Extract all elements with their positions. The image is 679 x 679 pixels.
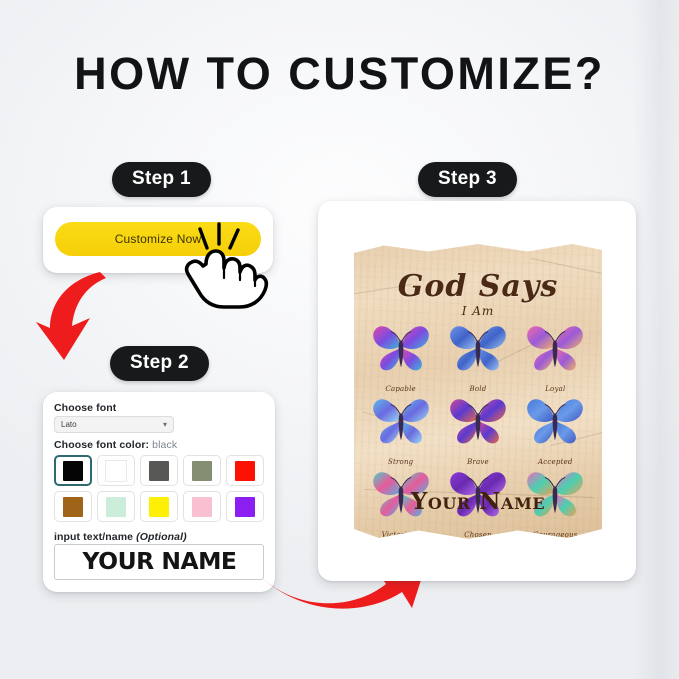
color-swatch-chip xyxy=(235,497,255,517)
blanket-name-placeholder: Your Name xyxy=(354,488,602,515)
butterfly-label: Courageous xyxy=(517,531,594,539)
name-text-input[interactable]: YOUR NAME xyxy=(54,544,264,580)
color-swatch-pink[interactable] xyxy=(183,491,221,522)
butterfly-cell: Bold xyxy=(439,321,516,394)
color-swatch-purple[interactable] xyxy=(226,491,264,522)
blanket-heading: God Says xyxy=(354,269,602,304)
color-swatch-dark-gray[interactable] xyxy=(140,455,178,486)
color-swatch-mint[interactable] xyxy=(97,491,135,522)
color-swatch-chip xyxy=(149,497,169,517)
color-swatch-chip xyxy=(149,461,169,481)
color-swatch-brown[interactable] xyxy=(54,491,92,522)
name-text-input-value: YOUR NAME xyxy=(82,549,236,575)
step-2-card: Choose font Lato ▾ Choose font color: bl… xyxy=(43,392,275,592)
butterfly-icon xyxy=(370,321,432,375)
butterfly-label: Bold xyxy=(439,385,516,393)
step-3-card: God Says I Am CapableBoldLoyalStrongBrav… xyxy=(318,201,636,581)
butterfly-icon xyxy=(370,394,432,448)
color-swatch-chip xyxy=(235,461,255,481)
butterfly-label: Chosen xyxy=(439,531,516,539)
color-swatch-chip xyxy=(63,461,83,481)
choose-font-label: Choose font xyxy=(54,402,116,414)
butterfly-icon xyxy=(447,321,509,375)
page-title: HOW TO CUSTOMIZE? xyxy=(0,48,679,100)
butterfly-cell: Strong xyxy=(362,394,439,467)
chevron-down-icon: ▾ xyxy=(163,421,167,429)
butterfly-cell: Capable xyxy=(362,321,439,394)
input-optional-text: (Optional) xyxy=(136,531,187,543)
color-swatch-yellow[interactable] xyxy=(140,491,178,522)
color-swatch-chip xyxy=(106,497,126,517)
color-swatch-white[interactable] xyxy=(97,455,135,486)
infographic-canvas: HOW TO CUSTOMIZE? Step 1 Customize Now xyxy=(0,0,679,679)
butterfly-cell: Loyal xyxy=(517,321,594,394)
choose-font-color-text: Choose font color: xyxy=(54,439,149,451)
butterfly-label: Victorious xyxy=(362,531,439,539)
color-swatch-grid xyxy=(54,455,264,522)
input-text-name-label: input text/name (Optional) xyxy=(54,531,187,543)
color-swatch-black[interactable] xyxy=(54,455,92,486)
butterfly-label: Loyal xyxy=(517,385,594,393)
color-swatch-chip xyxy=(105,460,127,482)
butterfly-label: Capable xyxy=(362,385,439,393)
choose-font-color-value: black xyxy=(152,439,177,451)
butterfly-cell: Brave xyxy=(439,394,516,467)
font-select-value: Lato xyxy=(61,420,163,429)
canvas-edge-shadow xyxy=(633,0,679,679)
butterfly-label: Brave xyxy=(439,458,516,466)
color-swatch-chip xyxy=(192,461,212,481)
font-select[interactable]: Lato ▾ xyxy=(54,416,174,433)
step-3-badge: Step 3 xyxy=(418,162,517,197)
step-1-badge: Step 1 xyxy=(112,162,211,197)
butterfly-icon xyxy=(524,321,586,375)
color-swatch-sage-green[interactable] xyxy=(183,455,221,486)
color-swatch-chip xyxy=(192,497,212,517)
step-2-badge: Step 2 xyxy=(110,346,209,381)
butterfly-label: Accepted xyxy=(517,458,594,466)
butterfly-label: Strong xyxy=(362,458,439,466)
pointing-hand-cursor-icon xyxy=(166,218,274,310)
butterfly-icon xyxy=(524,394,586,448)
color-swatch-red[interactable] xyxy=(226,455,264,486)
blanket-subheading: I Am xyxy=(354,304,602,318)
butterfly-cell: Accepted xyxy=(517,394,594,467)
input-text-name-text: input text/name xyxy=(54,531,133,543)
arrow-step1-to-step2 xyxy=(28,266,120,364)
product-blanket-preview: God Says I Am CapableBoldLoyalStrongBrav… xyxy=(354,241,602,541)
choose-font-color-label: Choose font color: black xyxy=(54,439,177,451)
color-swatch-chip xyxy=(63,497,83,517)
butterfly-icon xyxy=(447,394,509,448)
